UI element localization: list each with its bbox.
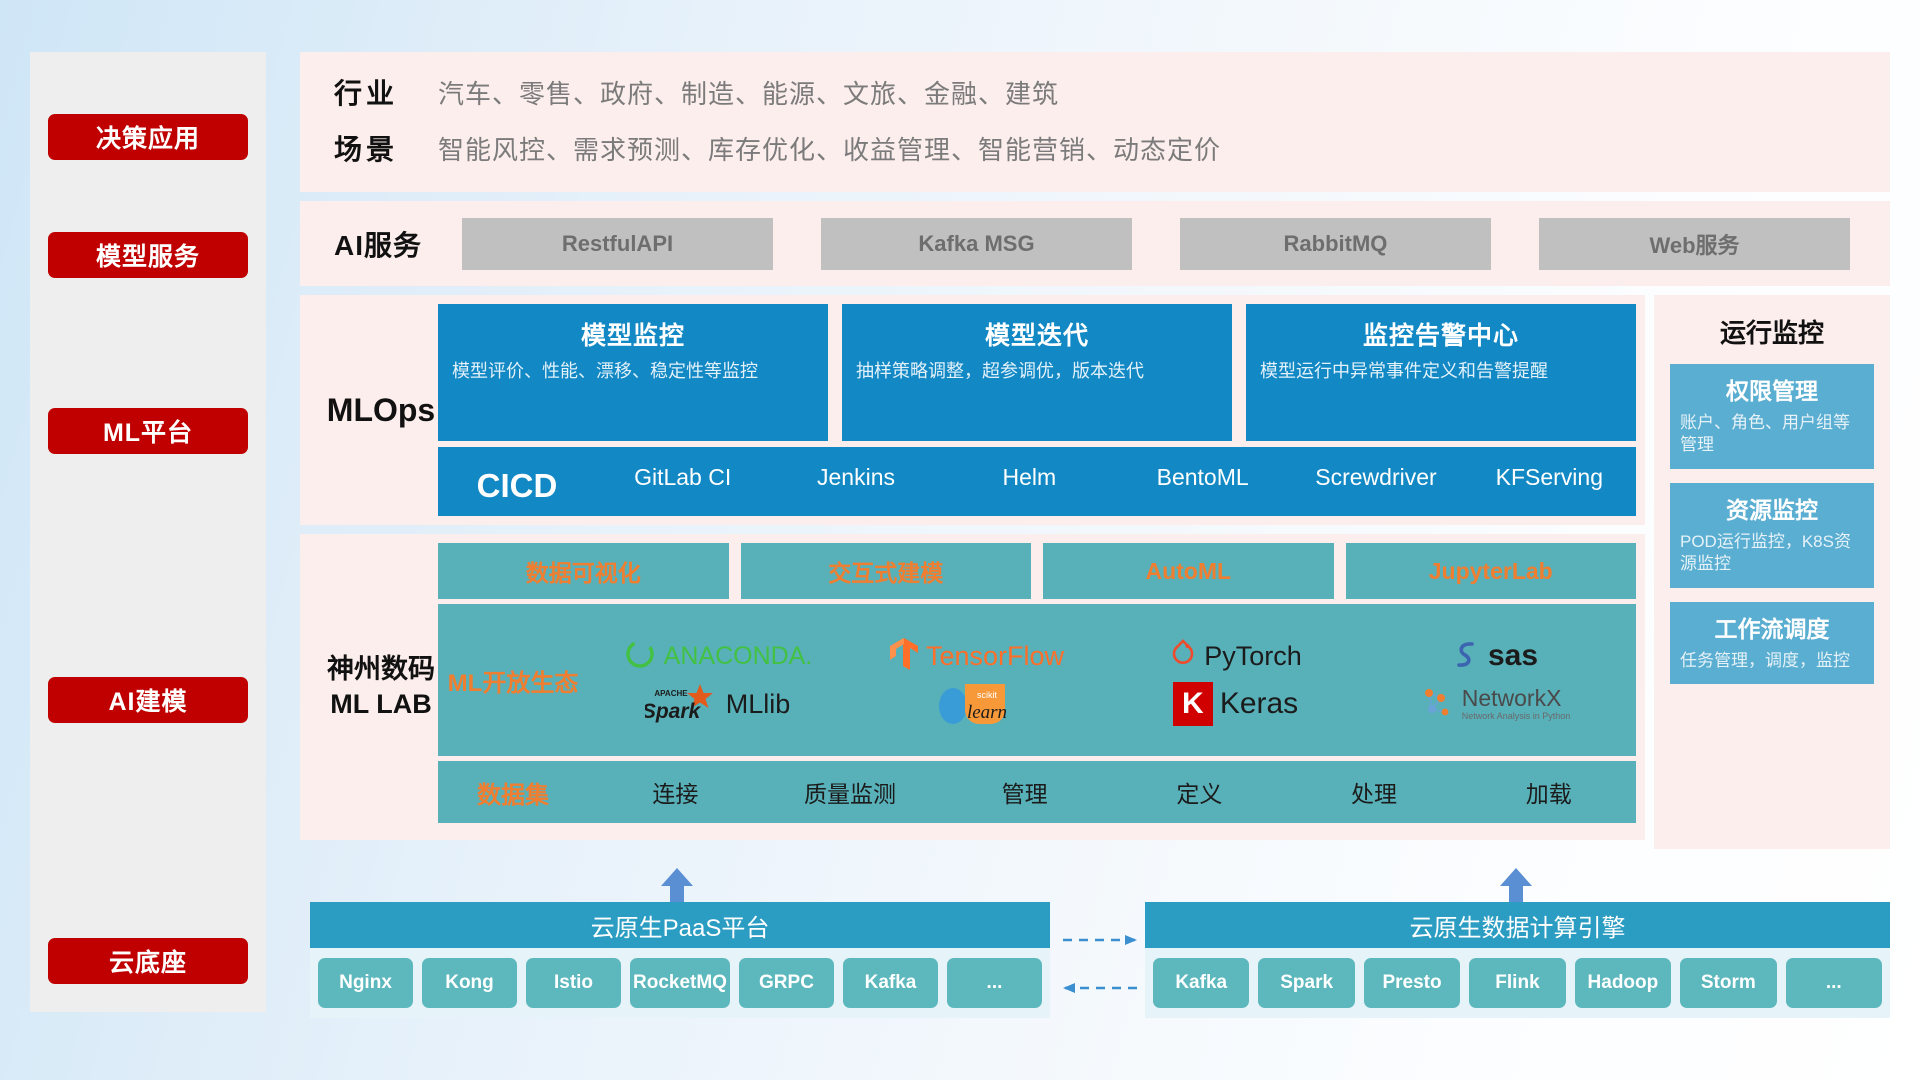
- cicd-item-screwdriver[interactable]: Screwdriver: [1289, 447, 1462, 492]
- networkx-icon: [1419, 684, 1455, 725]
- cicd-item-helm[interactable]: Helm: [943, 447, 1116, 492]
- cloud-native-paas-chip-list: Nginx Kong Istio RocketMQ GRPC Kafka ...: [310, 948, 1050, 1018]
- monitor-card-workflow[interactable]: 工作流调度 任务管理，调度，监控: [1670, 602, 1874, 684]
- mlops-card-list: 模型监控 模型评价、性能、漂移、稳定性等监控 模型迭代 抽样策略调整，超参调优，…: [438, 304, 1636, 441]
- rail-item-ai-modeling[interactable]: AI建模: [48, 677, 248, 723]
- cicd-bar: CICD GitLab CI Jenkins Helm BentoML Scre…: [438, 447, 1636, 516]
- cicd-item-gitlab-ci[interactable]: GitLab CI: [596, 447, 769, 492]
- industry-value: 汽车、零售、政府、制造、能源、文旅、金融、建筑: [438, 74, 1059, 111]
- scenario-value: 智能风控、需求预测、库存优化、收益管理、智能营销、动态定价: [438, 130, 1221, 167]
- engine-chip-presto[interactable]: Presto: [1364, 958, 1460, 1008]
- rail-label: ML平台: [103, 413, 193, 449]
- mlops-card-model-monitoring[interactable]: 模型监控 模型评价、性能、漂移、稳定性等监控: [438, 304, 828, 441]
- rail-item-model-service[interactable]: 模型服务: [48, 232, 248, 278]
- paas-chip-istio[interactable]: Istio: [526, 958, 621, 1008]
- ai-service-band: AI服务 RestfulAPI Kafka MSG RabbitMQ Web服务: [300, 201, 1890, 286]
- ml-ecosystem-panel: ML开放生态 ANACONDA.: [438, 604, 1636, 756]
- ai-service-chip-kafka-msg[interactable]: Kafka MSG: [821, 218, 1132, 270]
- paas-chip-grpc[interactable]: GRPC: [739, 958, 834, 1008]
- anaconda-wordmark: ANACONDA.: [664, 642, 813, 671]
- engine-chip-more[interactable]: ...: [1786, 958, 1882, 1008]
- ai-service-chip-rabbitmq[interactable]: RabbitMQ: [1180, 218, 1491, 270]
- scenario-key: 场景: [334, 128, 438, 168]
- ml-ecosystem-label: ML开放生态: [438, 663, 588, 698]
- cloud-native-data-engine-title: 云原生数据计算引擎: [1145, 902, 1890, 948]
- card-desc: 模型评价、性能、漂移、稳定性等监控: [452, 360, 814, 384]
- card-desc: 任务管理，调度，监控: [1680, 650, 1864, 672]
- card-title: 监控告警中心: [1260, 316, 1622, 352]
- up-arrow-data-engine-icon: [1496, 866, 1536, 906]
- card-desc: 账户、角色、用户组等管理: [1680, 412, 1864, 457]
- up-arrow-paas-icon: [657, 866, 697, 906]
- ml-lab-tab-jupyterlab[interactable]: JupyterLab: [1346, 543, 1637, 599]
- svg-text:learn: learn: [966, 702, 1006, 723]
- ai-service-chip-web-service[interactable]: Web服务: [1539, 218, 1850, 270]
- paas-chip-more[interactable]: ...: [947, 958, 1042, 1008]
- card-desc: POD运行监控，K8S资源监控: [1680, 531, 1864, 576]
- dataset-item-connect[interactable]: 连接: [588, 775, 763, 809]
- networkx-wordmark: NetworkX: [1462, 687, 1571, 710]
- ml-lab-band: 神州数码 ML LAB 数据可视化 交互式建模 AutoML JupyterLa…: [300, 534, 1645, 840]
- ai-service-chip-restfulapi[interactable]: RestfulAPI: [462, 218, 773, 270]
- logo-pytorch: PyTorch: [1169, 638, 1302, 675]
- keras-mark-letter: K: [1182, 687, 1204, 721]
- logo-spark-mllib: APACHE Spark MLlib: [645, 682, 791, 726]
- applications-band: 行业 汽车、零售、政府、制造、能源、文旅、金融、建筑 场景 智能风控、需求预测、…: [300, 52, 1890, 192]
- cloud-native-data-engine-chip-list: Kafka Spark Presto Flink Hadoop Storm ..…: [1145, 948, 1890, 1018]
- apache-spark-icon: APACHE Spark: [645, 682, 719, 726]
- card-title: 工作流调度: [1680, 610, 1864, 644]
- dataset-item-loading[interactable]: 加载: [1461, 775, 1636, 809]
- mlops-card-alert-center[interactable]: 监控告警中心 模型运行中异常事件定义和告警提醒: [1246, 304, 1636, 441]
- networkx-tagline: Network Analysis in Python: [1462, 712, 1571, 721]
- logo-scikit-learn: scikit learn: [935, 680, 1019, 728]
- card-title: 模型迭代: [856, 316, 1218, 352]
- ml-lab-label: 神州数码 ML LAB: [300, 534, 438, 840]
- mllib-wordmark: MLlib: [726, 689, 791, 720]
- engine-chip-hadoop[interactable]: Hadoop: [1575, 958, 1671, 1008]
- mlops-content: 模型监控 模型评价、性能、漂移、稳定性等监控 模型迭代 抽样策略调整，超参调优，…: [438, 295, 1645, 525]
- ai-service-label: AI服务: [334, 224, 438, 264]
- dataset-label: 数据集: [438, 775, 588, 810]
- scikit-learn-icon: scikit learn: [935, 680, 1019, 728]
- ml-ecosystem-logo-grid: ANACONDA. TensorFlow: [588, 632, 1636, 728]
- logo-networkx: NetworkX Network Analysis in Python: [1419, 684, 1571, 725]
- svg-text:APACHE: APACHE: [654, 689, 688, 698]
- logo-keras: K Keras: [1173, 682, 1298, 726]
- cicd-title: CICD: [438, 447, 596, 516]
- cloud-native-paas-title: 云原生PaaS平台: [310, 902, 1050, 948]
- dataset-item-quality-monitoring[interactable]: 质量监测: [763, 775, 938, 809]
- paas-chip-kong[interactable]: Kong: [422, 958, 517, 1008]
- main-content: 行业 汽车、零售、政府、制造、能源、文旅、金融、建筑 场景 智能风控、需求预测、…: [300, 52, 1890, 849]
- rail-label: 云底座: [109, 943, 187, 979]
- rail-label: AI建模: [108, 682, 187, 718]
- mlops-label: MLOps: [300, 295, 438, 525]
- application-row-scenario: 场景 智能风控、需求预测、库存优化、收益管理、智能营销、动态定价: [334, 128, 1890, 168]
- keras-wordmark: Keras: [1220, 687, 1298, 721]
- mlops-band: MLOps 模型监控 模型评价、性能、漂移、稳定性等监控 模型迭代 抽样策略调整…: [300, 295, 1645, 525]
- pytorch-icon: [1169, 638, 1197, 675]
- mlops-card-model-iteration[interactable]: 模型迭代 抽样策略调整，超参调优，版本迭代: [842, 304, 1232, 441]
- anaconda-icon: [623, 637, 657, 676]
- sas-wordmark: sas: [1488, 639, 1538, 673]
- cicd-item-jenkins[interactable]: Jenkins: [769, 447, 942, 492]
- dataset-item-processing[interactable]: 处理: [1287, 775, 1462, 809]
- runtime-monitor-title: 运行监控: [1670, 307, 1874, 364]
- svg-text:scikit: scikit: [977, 690, 997, 700]
- cloud-foundation-section: 云原生PaaS平台 Nginx Kong Istio RocketMQ GRPC…: [300, 880, 1890, 1050]
- rail-label: 决策应用: [96, 119, 200, 155]
- bidirectional-link-icon: [1055, 926, 1145, 1016]
- dataset-item-definition[interactable]: 定义: [1112, 775, 1287, 809]
- paas-chip-rocketmq[interactable]: RocketMQ: [630, 958, 730, 1008]
- svg-text:Spark: Spark: [645, 700, 701, 723]
- card-desc: 抽样策略调整，超参调优，版本迭代: [856, 360, 1218, 384]
- rail-item-cloud-base[interactable]: 云底座: [48, 938, 248, 984]
- tensorflow-icon: [889, 636, 919, 677]
- engine-chip-flink[interactable]: Flink: [1469, 958, 1565, 1008]
- dataset-bar: 数据集 连接 质量监测 管理 定义 处理 加载: [438, 761, 1636, 823]
- layer-rail: 决策应用 模型服务 ML平台 AI建模 云底座: [30, 52, 266, 1012]
- monitor-card-resource[interactable]: 资源监控 POD运行监控，K8S资源监控: [1670, 483, 1874, 588]
- keras-icon: K: [1173, 682, 1213, 726]
- monitor-card-permission[interactable]: 权限管理 账户、角色、用户组等管理: [1670, 364, 1874, 469]
- runtime-monitor-panel: 运行监控 权限管理 账户、角色、用户组等管理 资源监控 POD运行监控，K8S资…: [1654, 295, 1890, 849]
- card-title: 资源监控: [1680, 491, 1864, 525]
- ml-lab-label-line1: 神州数码: [327, 652, 435, 687]
- dataset-item-management[interactable]: 管理: [937, 775, 1112, 809]
- industry-key: 行业: [334, 72, 438, 112]
- platform-left-column: MLOps 模型监控 模型评价、性能、漂移、稳定性等监控 模型迭代 抽样策略调整…: [300, 295, 1645, 849]
- pytorch-wordmark: PyTorch: [1204, 641, 1302, 672]
- ml-lab-label-line2: ML LAB: [330, 687, 432, 722]
- cicd-item-bentoml[interactable]: BentoML: [1116, 447, 1289, 492]
- card-title: 权限管理: [1680, 372, 1864, 406]
- cicd-item-kfserving[interactable]: KFServing: [1463, 447, 1636, 492]
- cloud-native-data-engine-group: 云原生数据计算引擎 Kafka Spark Presto Flink Hadoo…: [1145, 902, 1890, 1018]
- rail-label: 模型服务: [96, 237, 200, 273]
- ml-lab-tab-automl[interactable]: AutoML: [1043, 543, 1334, 599]
- ml-lab-tab-data-visualization[interactable]: 数据可视化: [438, 543, 729, 599]
- card-title: 模型监控: [452, 316, 814, 352]
- platform-section: MLOps 模型监控 模型评价、性能、漂移、稳定性等监控 模型迭代 抽样策略调整…: [300, 295, 1890, 849]
- paas-chip-nginx[interactable]: Nginx: [318, 958, 413, 1008]
- logo-sas: sas: [1451, 638, 1538, 675]
- rail-item-ml-platform[interactable]: ML平台: [48, 408, 248, 454]
- ml-lab-content: 数据可视化 交互式建模 AutoML JupyterLab ML开放生态: [438, 534, 1645, 840]
- engine-chip-storm[interactable]: Storm: [1680, 958, 1776, 1008]
- cloud-native-paas-group: 云原生PaaS平台 Nginx Kong Istio RocketMQ GRPC…: [310, 902, 1050, 1018]
- tensorflow-wordmark: TensorFlow: [926, 641, 1064, 672]
- ai-service-chip-list: RestfulAPI Kafka MSG RabbitMQ Web服务: [438, 218, 1890, 270]
- ml-lab-tab-list: 数据可视化 交互式建模 AutoML JupyterLab: [438, 543, 1636, 599]
- engine-chip-kafka[interactable]: Kafka: [1153, 958, 1249, 1008]
- rail-item-decision-apps[interactable]: 决策应用: [48, 114, 248, 160]
- card-desc: 模型运行中异常事件定义和告警提醒: [1260, 360, 1622, 384]
- application-row-industry: 行业 汽车、零售、政府、制造、能源、文旅、金融、建筑: [334, 72, 1890, 112]
- logo-tensorflow: TensorFlow: [889, 636, 1064, 677]
- logo-anaconda: ANACONDA.: [623, 637, 813, 676]
- paas-chip-kafka[interactable]: Kafka: [843, 958, 938, 1008]
- engine-chip-spark[interactable]: Spark: [1258, 958, 1354, 1008]
- sas-icon: [1451, 638, 1481, 675]
- ml-lab-tab-interactive-modeling[interactable]: 交互式建模: [741, 543, 1032, 599]
